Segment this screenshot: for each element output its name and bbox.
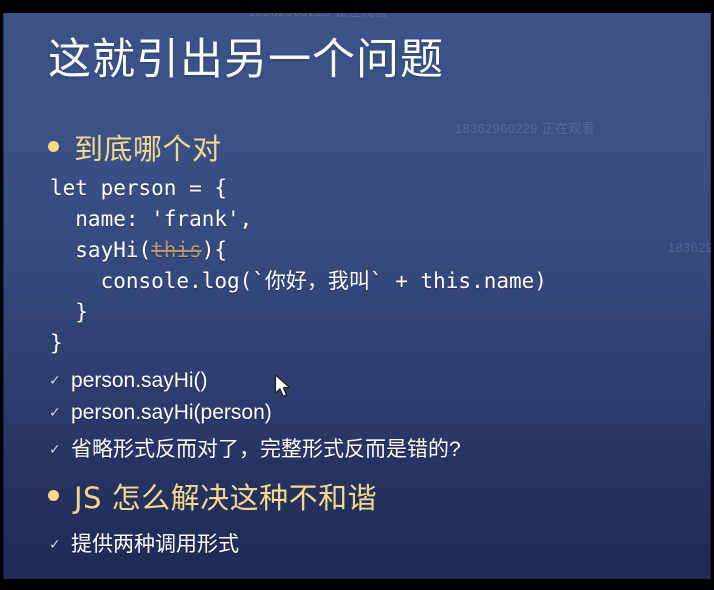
checklist-item-call-no-arg: ✓ person.sayHi() [49, 369, 208, 393]
video-player-screen: 18362960229 正在观看 18362960229 正在观看 183629… [0, 0, 714, 590]
check-icon: ✓ [49, 404, 71, 421]
checklist-item-label: person.sayHi(person) [71, 401, 272, 425]
code-line-5: } [50, 300, 88, 324]
bullet-item-js-solution: JS 怎么解决这种不和谐 [48, 475, 377, 517]
code-block: let person = { name: 'frank', sayHi(this… [50, 173, 547, 359]
check-icon: ✓ [49, 372, 71, 389]
slide-title: 这就引出另一个问题 [48, 35, 444, 87]
gold-dot-icon [48, 490, 59, 501]
letterbox-bar-top [0, 0, 714, 13]
checklist-item-label: 提供两种调用形式 [71, 528, 239, 558]
code-line-3-prefix: sayHi( [50, 238, 151, 262]
bullet-label: JS 怎么解决这种不和谐 [74, 475, 377, 517]
letterbox-bar-bottom [0, 579, 714, 590]
code-line-2: name: 'frank', [50, 207, 252, 231]
watermark-middle: 18362960229 正在观看 [455, 118, 595, 137]
gold-dot-icon [48, 141, 59, 152]
code-line-1: let person = { [50, 176, 227, 200]
checklist-item-label: person.sayHi() [71, 369, 208, 393]
bullet-item-which-is-right: 到底哪个对 [48, 126, 222, 168]
checklist-item-question: ✓ 省略形式反而对了，完整形式反而是错的? [49, 433, 461, 463]
code-line-6: } [50, 331, 63, 355]
code-line-4: console.log(`你好，我叫` + this.name) [50, 269, 547, 293]
check-icon: ✓ [49, 536, 71, 553]
checklist-item-call-with-person: ✓ person.sayHi(person) [49, 401, 272, 425]
code-line-3-suffix: ){ [202, 238, 227, 262]
presentation-slide: 18362960229 正在观看 18362960229 正在观看 183629… [3, 13, 711, 579]
watermark-top: 18362960229 正在观看 [248, 13, 388, 20]
watermark-right-edge: 183629 [668, 240, 711, 255]
checklist-item-two-call-forms: ✓ 提供两种调用形式 [49, 528, 239, 558]
check-icon: ✓ [49, 441, 71, 458]
bullet-label: 到底哪个对 [74, 126, 222, 168]
code-struck-this: this [151, 238, 202, 262]
checklist-item-label: 省略形式反而对了，完整形式反而是错的? [71, 433, 461, 463]
